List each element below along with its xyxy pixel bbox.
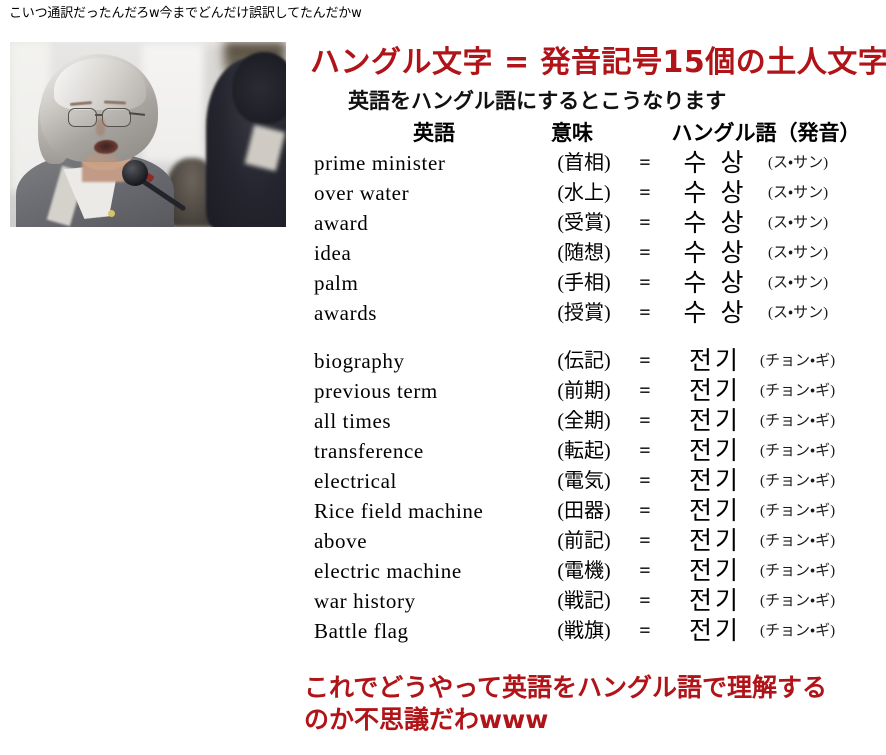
footer-line-2: のか不思議だわwww [304, 704, 827, 736]
photo-woman-glasses-bridge [95, 114, 102, 116]
cell-reading: (ス・サン) [768, 238, 880, 268]
cell-meaning: (転起) [536, 436, 632, 466]
cell-equals: = [632, 496, 658, 526]
photo-woman-glasses-left [68, 108, 97, 127]
cell-reading: (ス・サン) [768, 298, 880, 328]
cell-reading: (ス・サン) [768, 268, 880, 298]
cell-english: previous term [314, 376, 536, 406]
cell-hangul: 수 상 [660, 208, 770, 238]
table-group-spacer [300, 328, 880, 346]
cell-meaning: (全期) [536, 406, 632, 436]
cell-meaning: (電機) [536, 556, 632, 586]
cell-equals: = [632, 466, 658, 496]
cell-hangul: 전기 [660, 496, 770, 526]
table-body: prime minister(首相)=수 상(ス・サン)over water(水… [300, 148, 880, 646]
cell-reading: (チョン・ギ) [760, 466, 872, 496]
table-row: Battle flag(戦旗)=전기(チョン・ギ) [300, 616, 880, 646]
table-row: electric machine(電機)=전기(チョン・ギ) [300, 556, 880, 586]
cell-english: electrical [314, 466, 536, 496]
cell-meaning: (水上) [536, 178, 632, 208]
footer-caption: これでどうやって英語をハングル語で理解する のか不思議だわwww [304, 672, 827, 736]
cell-reading: (ス・サン) [768, 178, 880, 208]
table-row: prime minister(首相)=수 상(ス・サン) [300, 148, 880, 178]
photo-man-head [232, 52, 286, 124]
table-header-row: 英語 意味 ハングル語（発音） [300, 118, 880, 148]
cell-hangul: 전기 [660, 466, 770, 496]
photo-microphone-head [122, 160, 148, 186]
headline: ハングル文字 = 発音記号15個の土人文字 [310, 46, 886, 80]
column-header-english: 英語 [336, 118, 532, 148]
cell-equals: = [632, 178, 658, 208]
cell-hangul: 전기 [660, 526, 770, 556]
column-header-hangul: ハングル語（発音） [652, 118, 880, 148]
cell-english: Rice field machine [314, 496, 536, 526]
table-row: all times(全期)=전기(チョン・ギ) [300, 406, 880, 436]
photo-lapel-badge [108, 210, 115, 217]
cell-reading: (ス・サン) [768, 148, 880, 178]
cell-english: all times [314, 406, 536, 436]
cell-hangul: 전기 [660, 616, 770, 646]
cell-equals: = [632, 208, 658, 238]
cell-english: war history [314, 586, 536, 616]
photo-woman-nose [96, 118, 105, 136]
cell-hangul: 전기 [660, 556, 770, 586]
cell-english: electric machine [314, 556, 536, 586]
cell-meaning: (伝記) [536, 346, 632, 376]
table-row: transference(転起)=전기(チョン・ギ) [300, 436, 880, 466]
cell-hangul: 수 상 [660, 298, 770, 328]
cell-hangul: 전기 [660, 436, 770, 466]
cell-reading: (チョン・ギ) [760, 526, 872, 556]
press-conference-photo [10, 42, 286, 227]
cell-meaning: (受賞) [536, 208, 632, 238]
cell-english: Battle flag [314, 616, 536, 646]
cell-meaning: (随想) [536, 238, 632, 268]
homonym-table: 英語 意味 ハングル語（発音） prime minister(首相)=수 상(ス… [300, 118, 880, 646]
photo-woman-glasses-right [102, 108, 131, 127]
cell-hangul: 전기 [660, 346, 770, 376]
cell-meaning: (前期) [536, 376, 632, 406]
cell-english: over water [314, 178, 536, 208]
table-row: war history(戦記)=전기(チョン・ギ) [300, 586, 880, 616]
cell-hangul: 전기 [660, 376, 770, 406]
cell-reading: (チョン・ギ) [760, 436, 872, 466]
cell-hangul: 수 상 [660, 148, 770, 178]
table-row: biography(伝記)=전기(チョン・ギ) [300, 346, 880, 376]
cell-english: palm [314, 268, 536, 298]
cell-meaning: (手相) [536, 268, 632, 298]
table-row: electrical(電気)=전기(チョン・ギ) [300, 466, 880, 496]
table-row: Rice field machine(田器)=전기(チョン・ギ) [300, 496, 880, 526]
cell-hangul: 수 상 [660, 268, 770, 298]
cell-reading: (チョン・ギ) [760, 376, 872, 406]
table-row: award(受賞)=수 상(ス・サン) [300, 208, 880, 238]
cell-equals: = [632, 526, 658, 556]
table-row: idea(随想)=수 상(ス・サン) [300, 238, 880, 268]
table-row: previous term(前期)=전기(チョン・ギ) [300, 376, 880, 406]
cell-reading: (チョン・ギ) [760, 496, 872, 526]
top-caption: こいつ通訳だったんだろw今までどんだけ誤訳してたんだかw [9, 6, 362, 22]
cell-equals: = [632, 556, 658, 586]
cell-english: prime minister [314, 148, 536, 178]
table-row: palm(手相)=수 상(ス・サン) [300, 268, 880, 298]
cell-meaning: (授賞) [536, 298, 632, 328]
cell-meaning: (田器) [536, 496, 632, 526]
cell-equals: = [632, 616, 658, 646]
cell-reading: (チョン・ギ) [760, 586, 872, 616]
cell-equals: = [632, 586, 658, 616]
cell-equals: = [632, 148, 658, 178]
cell-reading: (チョン・ギ) [760, 556, 872, 586]
cell-reading: (チョン・ギ) [760, 616, 872, 646]
cell-english: biography [314, 346, 536, 376]
cell-english: awards [314, 298, 536, 328]
cell-english: above [314, 526, 536, 556]
cell-english: award [314, 208, 536, 238]
subtitle: 英語をハングル語にするとこうなります [348, 88, 726, 114]
footer-line-1: これでどうやって英語をハングル語で理解する [304, 672, 827, 704]
cell-hangul: 전기 [660, 406, 770, 436]
cell-equals: = [632, 268, 658, 298]
cell-equals: = [632, 298, 658, 328]
cell-equals: = [632, 238, 658, 268]
column-header-meaning: 意味 [512, 118, 632, 148]
table-row: over water(水上)=수 상(ス・サン) [300, 178, 880, 208]
cell-hangul: 수 상 [660, 238, 770, 268]
cell-equals: = [632, 376, 658, 406]
cell-meaning: (電気) [536, 466, 632, 496]
cell-equals: = [632, 346, 658, 376]
cell-reading: (チョン・ギ) [760, 346, 872, 376]
cell-english: transference [314, 436, 536, 466]
cell-equals: = [632, 406, 658, 436]
cell-meaning: (首相) [536, 148, 632, 178]
cell-hangul: 전기 [660, 586, 770, 616]
photo-woman-chin [84, 154, 118, 166]
table-row: above(前記)=전기(チョン・ギ) [300, 526, 880, 556]
cell-meaning: (戦旗) [536, 616, 632, 646]
cell-english: idea [314, 238, 536, 268]
cell-reading: (ス・サン) [768, 208, 880, 238]
cell-hangul: 수 상 [660, 178, 770, 208]
cell-equals: = [632, 436, 658, 466]
cell-reading: (チョン・ギ) [760, 406, 872, 436]
table-row: awards(授賞)=수 상(ス・サン) [300, 298, 880, 328]
cell-meaning: (戦記) [536, 586, 632, 616]
cell-meaning: (前記) [536, 526, 632, 556]
image-canvas: こいつ通訳だったんだろw今までどんだけ誤訳してたんだかw ハングル文字 = [0, 0, 886, 755]
